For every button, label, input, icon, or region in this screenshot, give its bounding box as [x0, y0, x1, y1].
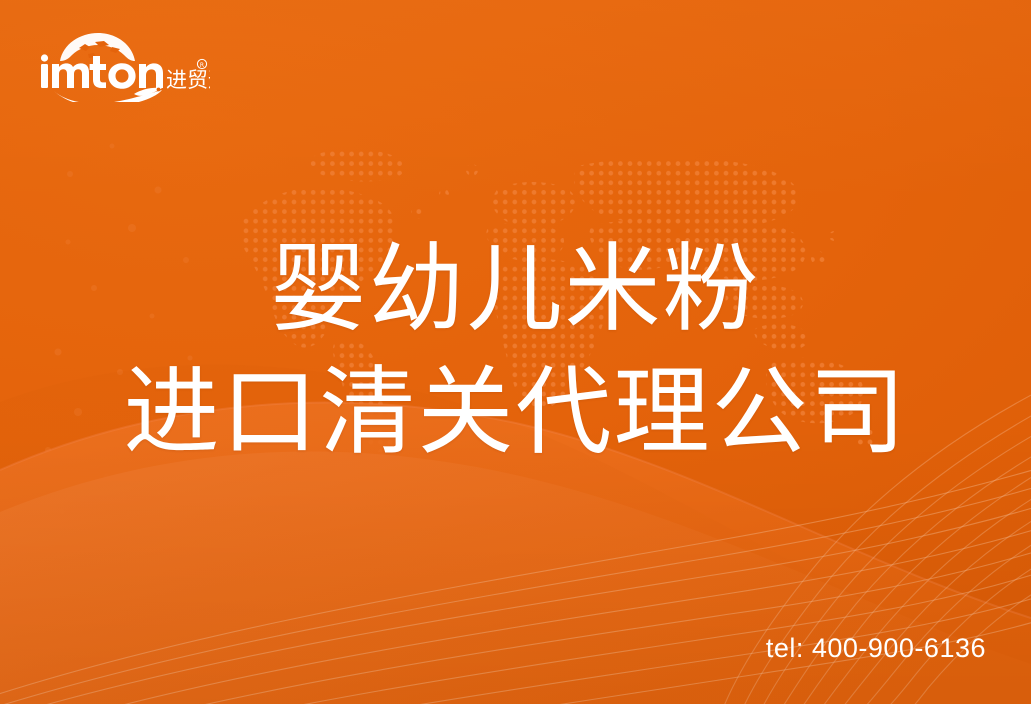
svg-text:进贸通: 进贸通: [166, 68, 210, 92]
headline-line-1: 婴幼儿米粉: [0, 228, 1031, 351]
svg-text:R: R: [200, 62, 204, 69]
registered-trademark-icon: R: [197, 59, 206, 69]
promo-banner: 进贸通 R 婴幼儿米粉 进口清关代理公司 tel: 400-900-6136: [0, 0, 1031, 704]
headline-line-2: 进口清关代理公司: [0, 351, 1031, 474]
swoosh-icon: [54, 88, 162, 102]
contact-telephone[interactable]: tel: 400-900-6136: [766, 633, 986, 664]
headline: 婴幼儿米粉 进口清关代理公司: [0, 228, 1031, 474]
logo-chinese-name: 进贸通: [166, 68, 210, 92]
imton-logo[interactable]: 进贸通 R: [38, 28, 210, 102]
logo-wordmark: [41, 54, 163, 88]
